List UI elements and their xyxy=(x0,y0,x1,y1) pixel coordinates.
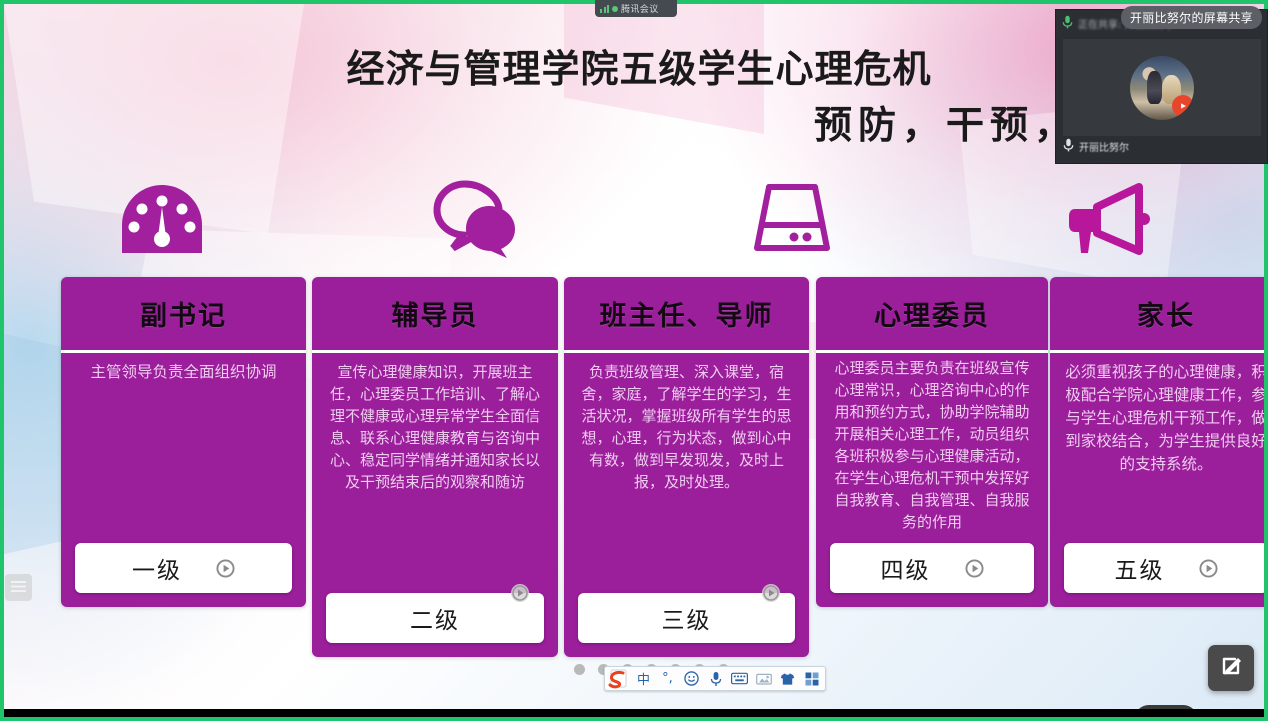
punctuation-mode-icon[interactable]: °, xyxy=(658,668,677,689)
card-body-text: 负责班级管理、深入课堂，宿舍，家庭，了解学生的学习，生活状况，掌握班级所有学生的… xyxy=(564,353,809,593)
card-level-label: 三级 xyxy=(662,601,712,635)
card-level-label: 二级 xyxy=(410,601,460,635)
card-level-label: 五级 xyxy=(1115,551,1165,585)
card-header: 家长 xyxy=(1050,277,1264,353)
card-footer-wrap: 五级 xyxy=(1050,543,1264,607)
role-card-fudaoyuan[interactable]: 辅导员 宣传心理健康知识，开展班主任，心理委员工作培训、了解心理不健康或心理异常… xyxy=(312,277,558,657)
icon-cell-2 xyxy=(319,169,634,269)
chinese-mode-icon[interactable]: 中 xyxy=(634,668,653,689)
server-icon xyxy=(747,182,837,256)
slide-icon-row xyxy=(4,169,1264,269)
role-cards-container: 副书记 主管领导负责全面组织协调 一级 xyxy=(4,272,1264,662)
participant-video-panel[interactable]: 正在共享: 开丽比努尔 ••• 开丽比努尔 xyxy=(1055,9,1268,164)
skin-icon[interactable] xyxy=(778,668,797,689)
annotate-pen-button[interactable] xyxy=(1208,645,1254,691)
card-footer-wrap: 三级 xyxy=(564,593,809,657)
screenshot-icon[interactable] xyxy=(754,668,773,689)
icon-cell-3 xyxy=(634,169,949,269)
card-level-label: 四级 xyxy=(881,551,931,585)
card-footer-wrap: 四级 xyxy=(816,543,1048,607)
play-circle-icon[interactable] xyxy=(1199,559,1218,578)
play-circle-icon[interactable] xyxy=(510,583,530,607)
menu-list-button[interactable] xyxy=(5,574,32,601)
share-tooltip: 开丽比努尔的屏幕共享 xyxy=(1121,6,1262,29)
gauge-icon xyxy=(118,181,206,257)
microphone-icon xyxy=(1062,15,1073,32)
icon-cell-1 xyxy=(4,169,319,269)
microphone-icon xyxy=(1063,138,1074,155)
meeting-tab-label: 腾讯会议 xyxy=(621,2,659,15)
desktop-bottom-bar xyxy=(0,709,1268,721)
role-card-jiazhang[interactable]: 家长 必须重视孩子的心理健康，积极配合学院心理健康工作，参与学生心理危机干预工作… xyxy=(1050,277,1264,607)
participant-name-row: 开丽比努尔 xyxy=(1063,138,1129,155)
voice-input-icon[interactable] xyxy=(706,668,725,689)
icon-cell-4 xyxy=(949,169,1264,269)
card-level-button[interactable]: 五级 xyxy=(1064,543,1264,593)
avatar-badge-icon xyxy=(1172,95,1194,117)
participant-name-label: 开丽比努尔 xyxy=(1079,139,1129,154)
card-level-button[interactable]: 一级 xyxy=(75,543,292,593)
status-dot-icon xyxy=(612,6,618,12)
card-footer-wrap: 二级 xyxy=(312,593,558,657)
card-header: 辅导员 xyxy=(312,277,558,353)
play-circle-icon[interactable] xyxy=(761,583,781,607)
role-card-fushuji[interactable]: 副书记 主管领导负责全面组织协调 一级 xyxy=(61,277,306,607)
annotate-pen-icon xyxy=(1218,653,1244,683)
play-circle-icon[interactable] xyxy=(965,559,984,578)
play-circle-icon[interactable] xyxy=(216,559,235,578)
sogou-ime-toolbar[interactable]: 中 °, xyxy=(604,666,826,691)
role-card-xinliweiyuan[interactable]: 心理委员 心理委员主要负责在班级宣传心理常识，心理咨询中心的作用和预约方式，协助… xyxy=(816,277,1048,607)
role-card-banzhuren[interactable]: 班主任、导师 负责班级管理、深入课堂，宿舍，家庭，了解学生的学习，生活状况，掌握… xyxy=(564,277,809,657)
card-level-label: 一级 xyxy=(132,551,182,585)
card-level-button[interactable]: 四级 xyxy=(830,543,1034,593)
card-body-text: 主管领导负责全面组织协调 xyxy=(61,353,306,543)
tencent-meeting-tab[interactable]: 腾讯会议 xyxy=(595,0,677,17)
card-header: 副书记 xyxy=(61,277,306,353)
card-header: 班主任、导师 xyxy=(564,277,809,353)
soft-keyboard-icon[interactable] xyxy=(730,668,749,689)
signal-icon xyxy=(600,5,609,13)
card-body-text: 心理委员主要负责在班级宣传心理常识，心理咨询中心的作用和预约方式，协助学院辅助开… xyxy=(816,353,1048,543)
speech-bubbles-icon xyxy=(431,180,523,258)
participant-video-tile[interactable] xyxy=(1063,39,1261,136)
slide-nav-dot[interactable] xyxy=(574,664,585,675)
emoji-icon[interactable] xyxy=(682,668,701,689)
card-body-text: 必须重视孩子的心理健康，积极配合学院心理健康工作，参与学生心理危机干预工作，做到… xyxy=(1050,353,1264,543)
toolbox-icon[interactable] xyxy=(802,668,821,689)
card-body-text: 宣传心理健康知识，开展班主任，心理委员工作培训、了解心理不健康或心理异常学生全面… xyxy=(312,353,558,593)
screen-share-view: 经济与管理学院五级学生心理危机 预防，干预，跟踪机制 xyxy=(0,0,1268,721)
avatar xyxy=(1130,56,1194,120)
card-header: 心理委员 xyxy=(816,277,1048,353)
card-footer-wrap: 一级 xyxy=(61,543,306,607)
sogou-logo-icon[interactable] xyxy=(607,668,629,689)
menu-list-icon xyxy=(11,578,26,597)
megaphone-icon xyxy=(1061,181,1153,257)
